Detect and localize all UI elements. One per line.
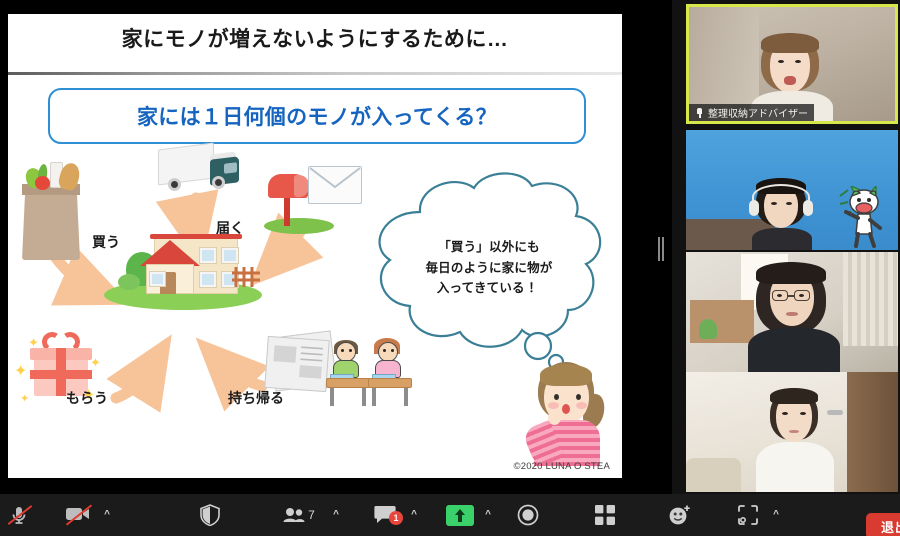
video-tile-2[interactable]	[686, 130, 898, 250]
bubble-line-1: 「買う」以外にも	[438, 237, 540, 258]
participants-options-caret[interactable]	[328, 494, 344, 536]
chat-unread-badge: 1	[389, 511, 403, 525]
slide-title-bar: 家にモノが増えないようにするために…	[8, 14, 622, 61]
copyright-notice: ©2020 LUNA O STEA	[514, 461, 610, 472]
video-tile-1[interactable]: 整理収納アドバイザー	[686, 4, 898, 124]
grocery-bag-illustration	[22, 162, 82, 262]
envelope-illustration	[308, 166, 364, 206]
house-illustration	[104, 218, 264, 314]
participants-button[interactable]: 7	[275, 494, 323, 536]
flow-diagram: 買う 届く	[8, 150, 622, 478]
record-circle-icon	[517, 504, 539, 526]
handle-bar	[658, 237, 660, 261]
video-tile-3[interactable]	[686, 252, 898, 372]
question-text: 家には１日何個のモノが入ってくる？	[137, 101, 497, 131]
shield-icon	[200, 504, 220, 526]
thought-bubble-text: 「買う」以外にも 毎日のように家に物が 入ってきている ！	[360, 168, 618, 368]
record-button[interactable]	[508, 494, 548, 536]
meeting-toolbar: 7 1	[0, 494, 900, 536]
bubble-line-3: 入ってきている ！	[437, 278, 541, 299]
participant-name-1: 整理収納アドバイザー	[708, 105, 808, 120]
share-screen-button[interactable]	[446, 505, 474, 526]
mute-audio-button[interactable]	[2, 494, 36, 536]
participants-icon	[283, 507, 305, 523]
video-tile-4[interactable]	[686, 372, 898, 492]
delivery-truck-illustration	[148, 146, 248, 204]
share-up-arrow-icon	[453, 508, 467, 523]
video-options-caret[interactable]	[99, 494, 115, 536]
participant-video-3	[748, 262, 840, 372]
bracket-frame-icon	[738, 505, 758, 525]
slide-title: 家にモノが増えないようにするために…	[122, 23, 509, 53]
presentation-slide: 家にモノが増えないようにするために… 家には１日何個のモノが入ってくる？	[8, 14, 622, 478]
participant-video-2	[748, 178, 818, 250]
stop-video-button[interactable]	[50, 494, 106, 536]
shared-screen-area[interactable]: 家にモノが増えないようにするために… 家には１日何個のモノが入ってくる？	[0, 0, 672, 494]
question-callout-box: 家には１日何個のモノが入ってくる？	[48, 88, 586, 144]
panel-resize-handle[interactable]	[655, 236, 667, 262]
share-options-caret[interactable]	[480, 494, 496, 536]
handle-bar	[662, 237, 664, 261]
leave-label: 退出	[881, 517, 900, 536]
breakout-rooms-button[interactable]	[585, 494, 625, 536]
bubble-line-2: 毎日のように家に物が	[425, 258, 552, 279]
label-bring-home: 持ち帰る	[228, 388, 284, 408]
participant-nameplate-1: 整理収納アドバイザー	[689, 104, 814, 121]
apps-options-caret[interactable]	[768, 494, 784, 536]
security-button[interactable]	[190, 494, 230, 536]
thinking-woman-illustration	[528, 358, 614, 470]
participants-count: 7	[308, 508, 315, 522]
label-receive: もらう	[66, 388, 108, 408]
video-filmstrip[interactable]: 整理収納アドバイザー	[684, 0, 900, 494]
participant-video-4	[756, 388, 834, 492]
chat-button[interactable]: 1	[366, 494, 404, 536]
reactions-button[interactable]	[660, 494, 700, 536]
thought-bubble: 「買う」以外にも 毎日のように家に物が 入ってきている ！	[360, 168, 618, 368]
leave-meeting-button[interactable]: 退出	[866, 513, 900, 536]
chat-options-caret[interactable]	[406, 494, 422, 536]
grid-squares-icon	[595, 505, 615, 525]
zoom-meeting-window: 家にモノが増えないようにするために… 家には１日何個のモノが入ってくる？	[0, 0, 900, 536]
title-divider	[8, 72, 622, 75]
pin-icon	[695, 108, 704, 118]
smiley-plus-icon	[668, 504, 692, 526]
apps-button[interactable]	[728, 494, 768, 536]
cat-mascot-icon	[838, 186, 886, 248]
